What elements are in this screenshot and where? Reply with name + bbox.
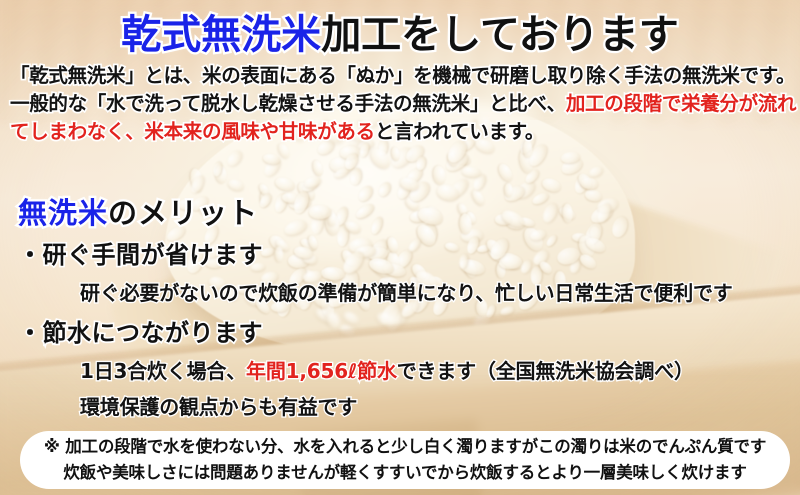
merit-item-2: ・節水につながります 1日3合炊く場合、年間1,656ℓ節水できます（全国無洗米… bbox=[18, 313, 694, 420]
merit-item-2-detail-line-2-text: 環境保護の観点からも有益です bbox=[80, 395, 357, 419]
merit-item-1: ・研ぐ手間が省けます 研ぐ必要がないので炊飯の準備が簡単になり、忙しい日常生活で… bbox=[18, 235, 733, 306]
merit-item-1-bullet: ・ bbox=[18, 241, 43, 269]
content-layer: 乾式無洗米加工をしております 「乾式無洗米」とは、米の表面にある「ぬか」を機械で… bbox=[0, 0, 800, 495]
footnote-text-block: ※ 加工の段階で水を使わない分、水を入れると少し白く濁りますがこの濁りは米のでん… bbox=[20, 431, 790, 489]
merit-item-2-heading-text: 節水につながります bbox=[43, 319, 264, 347]
merit-item-2-detail-line-2: 環境保護の観点からも有益です bbox=[80, 391, 694, 420]
merit-item-2-detail-line-1: 1日3合炊く場合、年間1,656ℓ節水できます（全国無洗米協会調べ） bbox=[80, 355, 694, 384]
description-line-2: 一般的な「水で洗って脱水し乾燥させる手法の無洗米」と比べ、加工の段階で栄養分が流… bbox=[10, 90, 800, 118]
merit-item-2-detail-suffix: できます（全国無洗米協会調べ） bbox=[397, 359, 694, 383]
description-line-2-red-text: 加工の段階で栄養分が流れ bbox=[566, 92, 796, 115]
merit-item-1-detail-text: 研ぐ必要がないので炊飯の準備が簡単になり、忙しい日常生活で便利です bbox=[80, 281, 733, 305]
merit-item-1-heading-text: 研ぐ手間が省けます bbox=[43, 241, 264, 269]
merit-item-2-bullet: ・ bbox=[18, 319, 43, 347]
merit-item-2-detail-highlight: 年間1,656ℓ節水 bbox=[246, 359, 397, 383]
merit-heading-rest-text: のメリット bbox=[108, 196, 258, 230]
merit-item-2-heading: ・節水につながります bbox=[18, 313, 694, 348]
footnote-line-2: 炊飯や美味しさには問題ありませんが軽くすすいでから炊飯するとより一層美味しく炊け… bbox=[63, 460, 746, 486]
title-rest-text: 加工をしております bbox=[321, 12, 679, 58]
description-block: 「乾式無洗米」とは、米の表面にある「ぬか」を機械で研磨し取り除く手法の無洗米です… bbox=[10, 62, 800, 146]
merit-section-heading: 無洗米のメリット bbox=[18, 190, 258, 232]
merit-item-2-detail-prefix: 1日3合炊く場合、 bbox=[80, 359, 246, 383]
description-line-1: 「乾式無洗米」とは、米の表面にある「ぬか」を機械で研磨し取り除く手法の無洗米です… bbox=[10, 62, 800, 90]
description-line-2-black-text: 一般的な「水で洗って脱水し乾燥させる手法の無洗米」と比べ、 bbox=[10, 92, 566, 115]
description-line-3-black-text: と言われています。 bbox=[375, 120, 544, 143]
merit-item-1-heading: ・研ぐ手間が省けます bbox=[18, 235, 733, 270]
promotional-banner: 乾式無洗米加工をしております 「乾式無洗米」とは、米の表面にある「ぬか」を機械で… bbox=[0, 0, 800, 495]
merit-heading-accent-text: 無洗米 bbox=[18, 196, 108, 230]
description-line-1-text: 「乾式無洗米」とは、米の表面にある「ぬか」を機械で研磨し取り除く手法の無洗米です… bbox=[10, 64, 795, 87]
description-line-3: てしまわなく、米本来の風味や甘味があると言われています。 bbox=[10, 118, 800, 146]
description-line-3-red-text: てしまわなく、米本来の風味や甘味がある bbox=[10, 120, 375, 143]
footnote-line-1: ※ 加工の段階で水を使わない分、水を入れると少し白く濁りますがこの濁りは米のでん… bbox=[44, 434, 766, 460]
merit-item-1-detail: 研ぐ必要がないので炊飯の準備が簡単になり、忙しい日常生活で便利です bbox=[80, 277, 733, 306]
title-accent-text: 乾式無洗米 bbox=[121, 12, 321, 58]
page-title: 乾式無洗米加工をしております bbox=[0, 13, 800, 57]
